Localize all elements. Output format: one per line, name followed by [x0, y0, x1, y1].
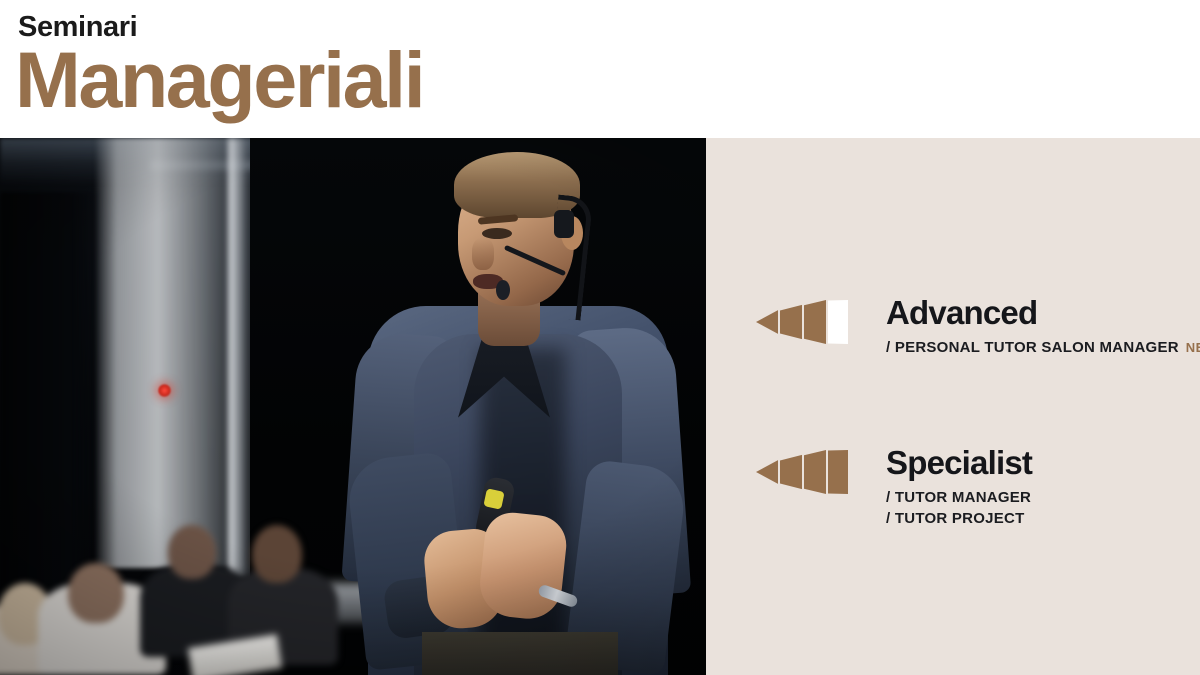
- page-title: Manageriali: [15, 40, 423, 119]
- chevron-segment-2: [780, 300, 802, 344]
- chevron-segment-1: [756, 450, 778, 494]
- chevron-segment-1: [756, 300, 778, 344]
- status-badge-new: NEW: [1186, 340, 1200, 355]
- red-indicator-light: [158, 384, 171, 397]
- microphone-capsule: [496, 280, 510, 300]
- level-text-block: Advanced / PERSONAL TUTOR SALON MANAGERN…: [886, 296, 1200, 358]
- course-item[interactable]: / TUTOR PROJECT: [886, 508, 1032, 529]
- clicker-yellow-label: [483, 488, 504, 509]
- chevron-segment-4: [828, 450, 848, 494]
- course-item[interactable]: / PERSONAL TUTOR SALON MANAGERNEW: [886, 337, 1200, 358]
- level-item-advanced[interactable]: Advanced / PERSONAL TUTOR SALON MANAGERN…: [706, 296, 1200, 358]
- chevron-wedge-icon: [756, 450, 848, 494]
- slide-header: Seminari Manageriali: [0, 0, 1200, 138]
- speaker-figure: [330, 138, 706, 675]
- level-text-block: Specialist / TUTOR MANAGER / TUTOR PROJE…: [886, 446, 1032, 529]
- slide-root: Seminari Manageriali: [0, 0, 1200, 675]
- course-list-specialist: / TUTOR MANAGER / TUTOR PROJECT: [886, 487, 1032, 530]
- level-item-specialist[interactable]: Specialist / TUTOR MANAGER / TUTOR PROJE…: [706, 446, 1200, 529]
- audience-head: [168, 525, 216, 579]
- audience-head: [252, 525, 302, 583]
- photo-scene: [0, 138, 706, 675]
- course-list-advanced: / PERSONAL TUTOR SALON MANAGERNEW: [886, 337, 1200, 358]
- chevron-segment-4: [828, 300, 848, 344]
- chevron-segment-3: [804, 450, 826, 494]
- headset-earpad: [554, 210, 574, 238]
- speaker-photo: [0, 138, 706, 675]
- level-title-advanced: Advanced: [886, 296, 1200, 331]
- level-title-specialist: Specialist: [886, 446, 1032, 481]
- course-label: / PERSONAL TUTOR SALON MANAGER: [886, 339, 1179, 356]
- speaker-trousers: [422, 632, 618, 675]
- audience-head: [68, 563, 124, 623]
- chevron-segment-3: [804, 300, 826, 344]
- chevron-wedge-icon: [756, 300, 848, 344]
- course-item[interactable]: / TUTOR MANAGER: [886, 487, 1032, 508]
- chevron-segment-2: [780, 450, 802, 494]
- speaker-nose: [472, 238, 494, 270]
- levels-panel: Advanced / PERSONAL TUTOR SALON MANAGERN…: [706, 138, 1200, 675]
